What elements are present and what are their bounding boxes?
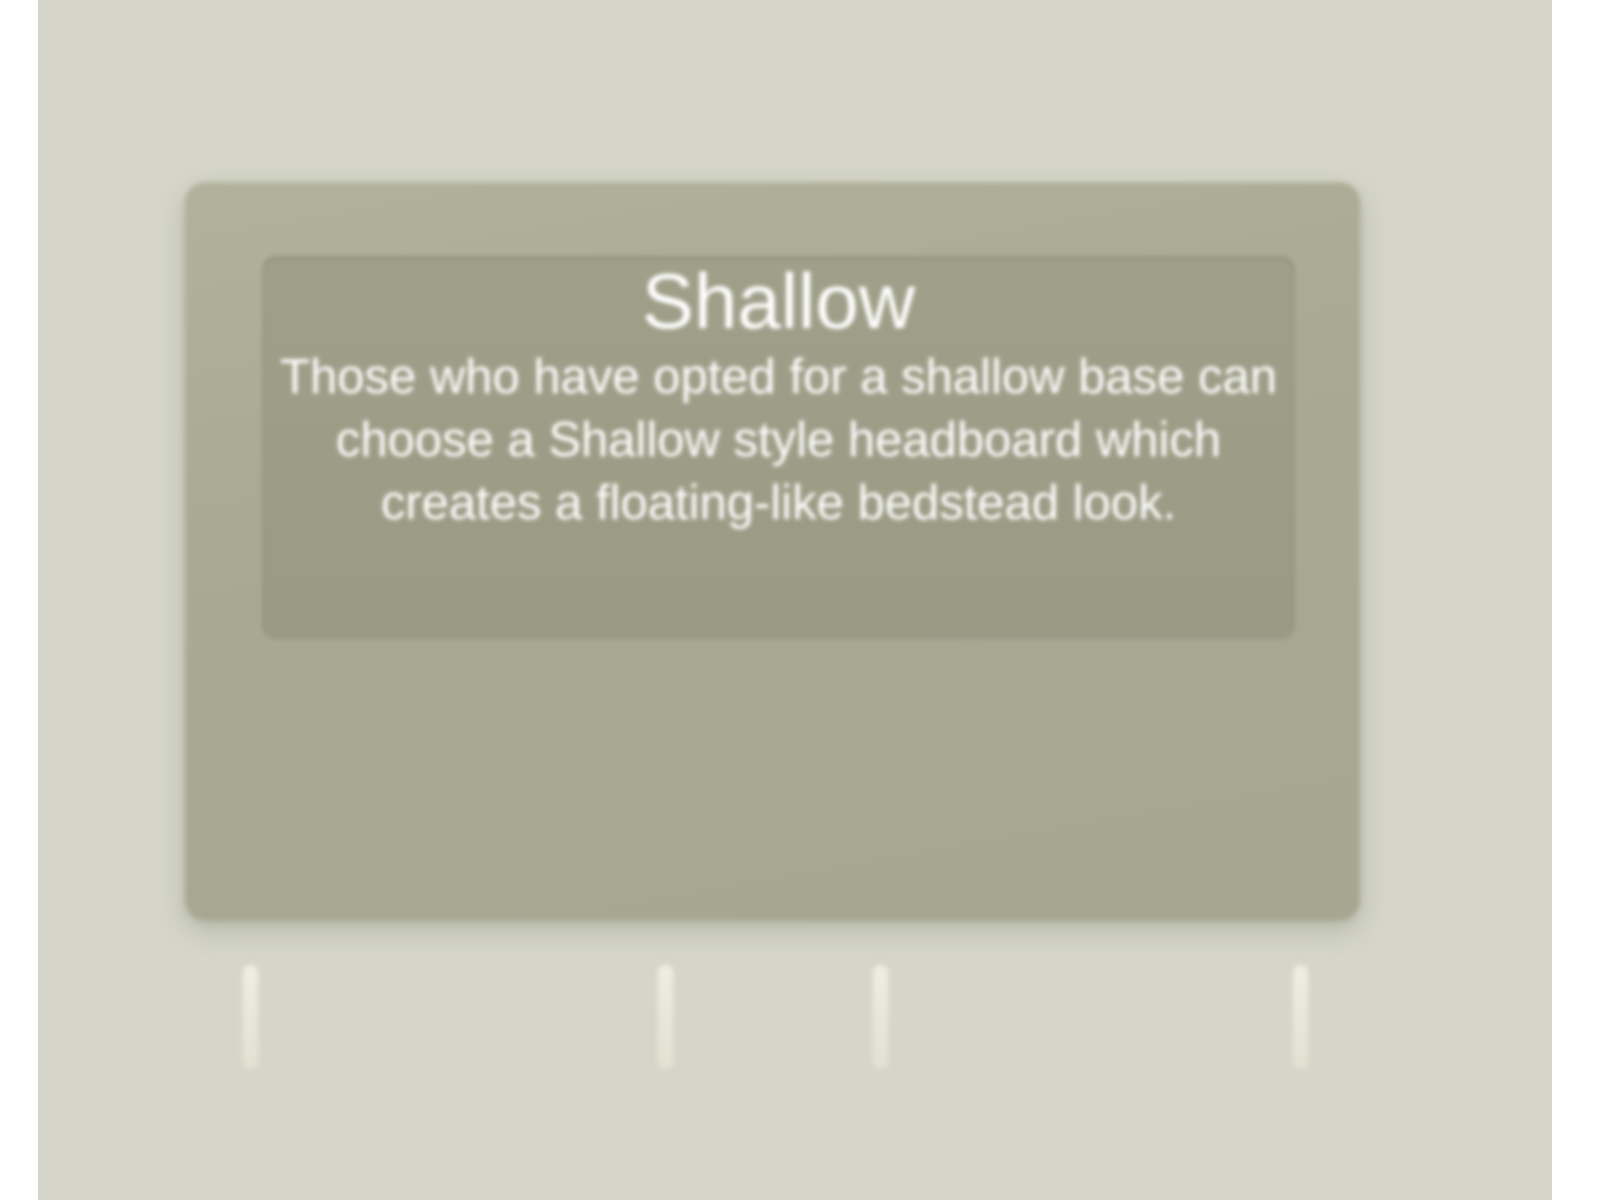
- slot-tick-1: [243, 965, 258, 1069]
- slot-tick-2: [658, 965, 673, 1069]
- blur-layer: Shallow Those who have opted for a shall…: [0, 0, 1600, 1200]
- page-stage: Shallow Those who have opted for a shall…: [0, 0, 1600, 1200]
- slot-tick-3: [873, 965, 888, 1069]
- caption-panel: Shallow Those who have opted for a shall…: [262, 256, 1295, 640]
- page-title: Shallow: [642, 262, 915, 342]
- panel-description: Those who have opted for a shallow base …: [280, 346, 1277, 536]
- headboard-card[interactable]: Shallow Those who have opted for a shall…: [185, 182, 1360, 920]
- slot-tick-4: [1293, 965, 1308, 1069]
